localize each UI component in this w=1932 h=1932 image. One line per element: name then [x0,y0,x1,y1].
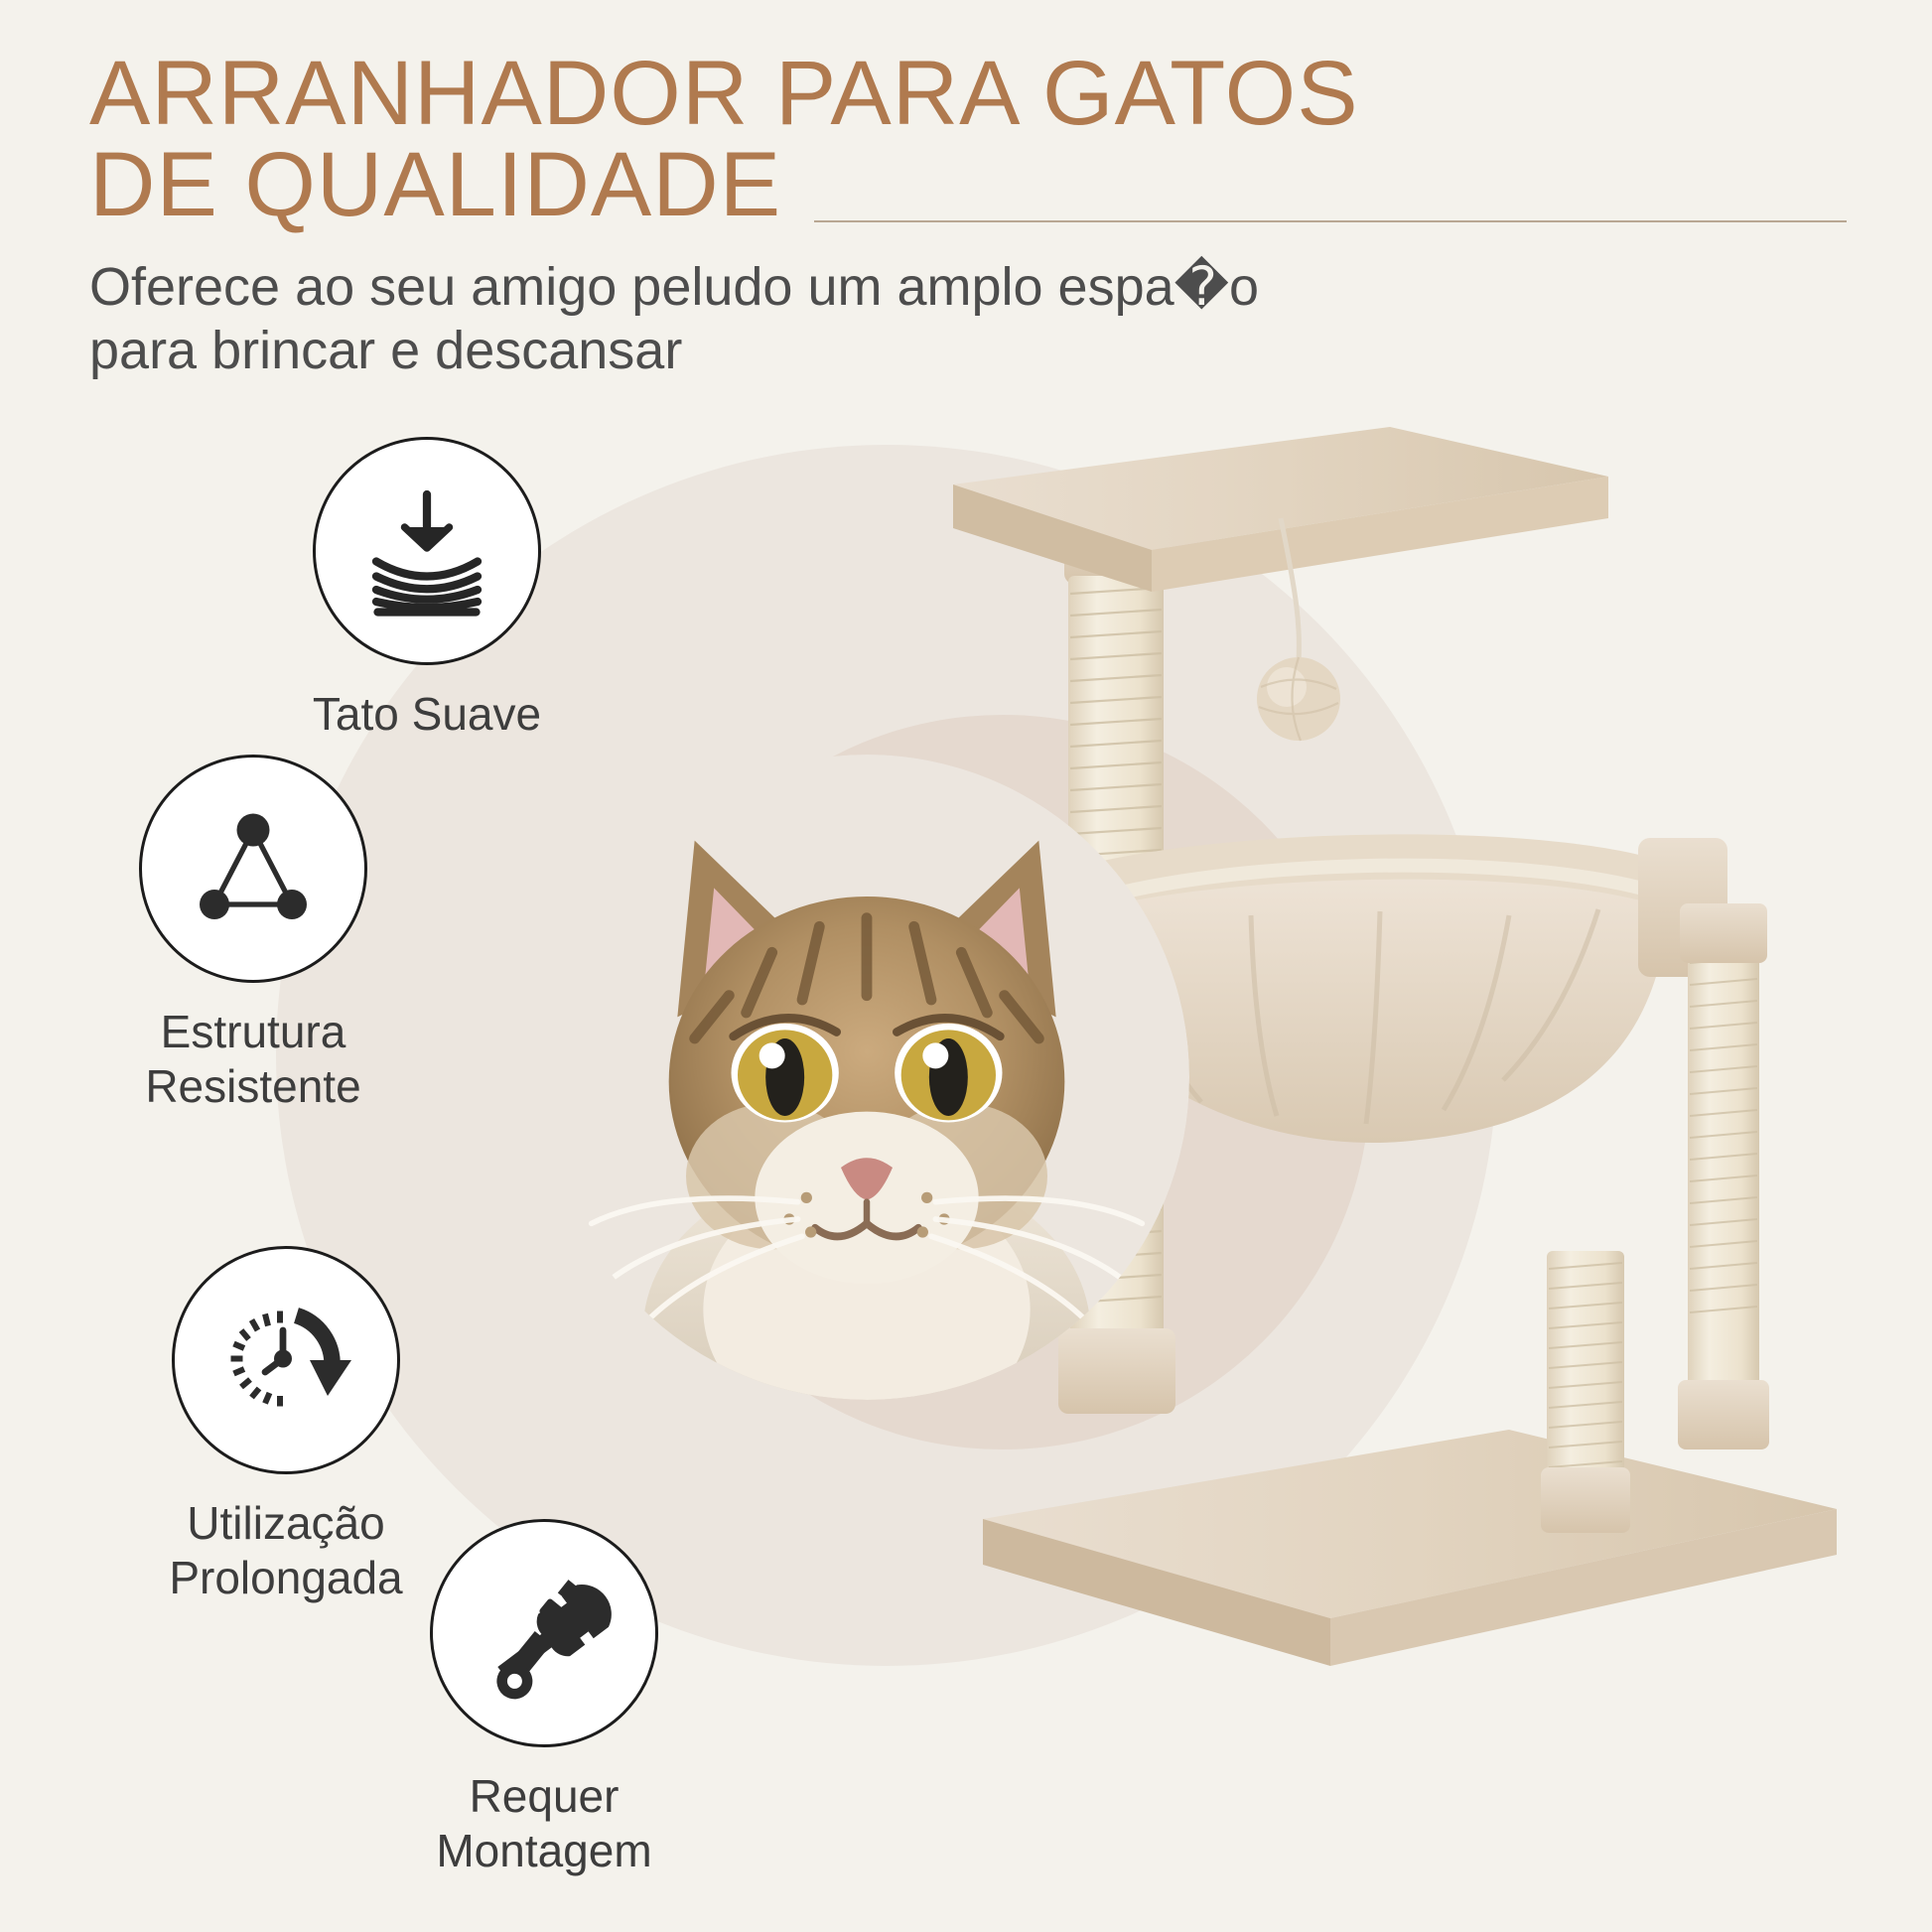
feature-icon-badge [172,1246,400,1474]
feature-estrutura-resistente: Estrutura Resistente [94,755,412,1114]
page-subtitle: Oferece ao seu amigo peludo um amplo esp… [89,256,1777,382]
tabby-cat-photo [544,755,1189,1400]
triangle-structure-icon [179,794,328,943]
subtitle-line-2: para brincar e descansar [89,320,1777,383]
title-line-1: ARRANHADOR PARA GATOS [89,43,1359,144]
title-line-2: DE QUALIDADE [89,139,1777,230]
cushion-press-arrow-icon [352,477,501,625]
feature-label: Requer Montagem [385,1769,703,1878]
infographic-canvas: ARRANHADOR PARA GATOS DE QUALIDADE Ofere… [0,0,1932,1932]
feature-icon-badge [430,1519,658,1747]
subtitle-line-1: Oferece ao seu amigo peludo um amplo esp… [89,256,1777,320]
feature-icon-badge [313,437,541,665]
feature-icon-badge [139,755,367,983]
header-block: ARRANHADOR PARA GATOS DE QUALIDADE Ofere… [89,48,1777,382]
feature-label: Tato Suave [278,687,576,742]
wrench-screwdriver-icon [470,1559,619,1708]
feature-requer-montagem: Requer Montagem [385,1519,703,1878]
page-title: ARRANHADOR PARA GATOS DE QUALIDADE [89,48,1777,230]
feature-label: Estrutura Resistente [94,1005,412,1114]
feature-tato-suave: Tato Suave [278,437,576,742]
clock-arrow-icon [211,1286,360,1435]
